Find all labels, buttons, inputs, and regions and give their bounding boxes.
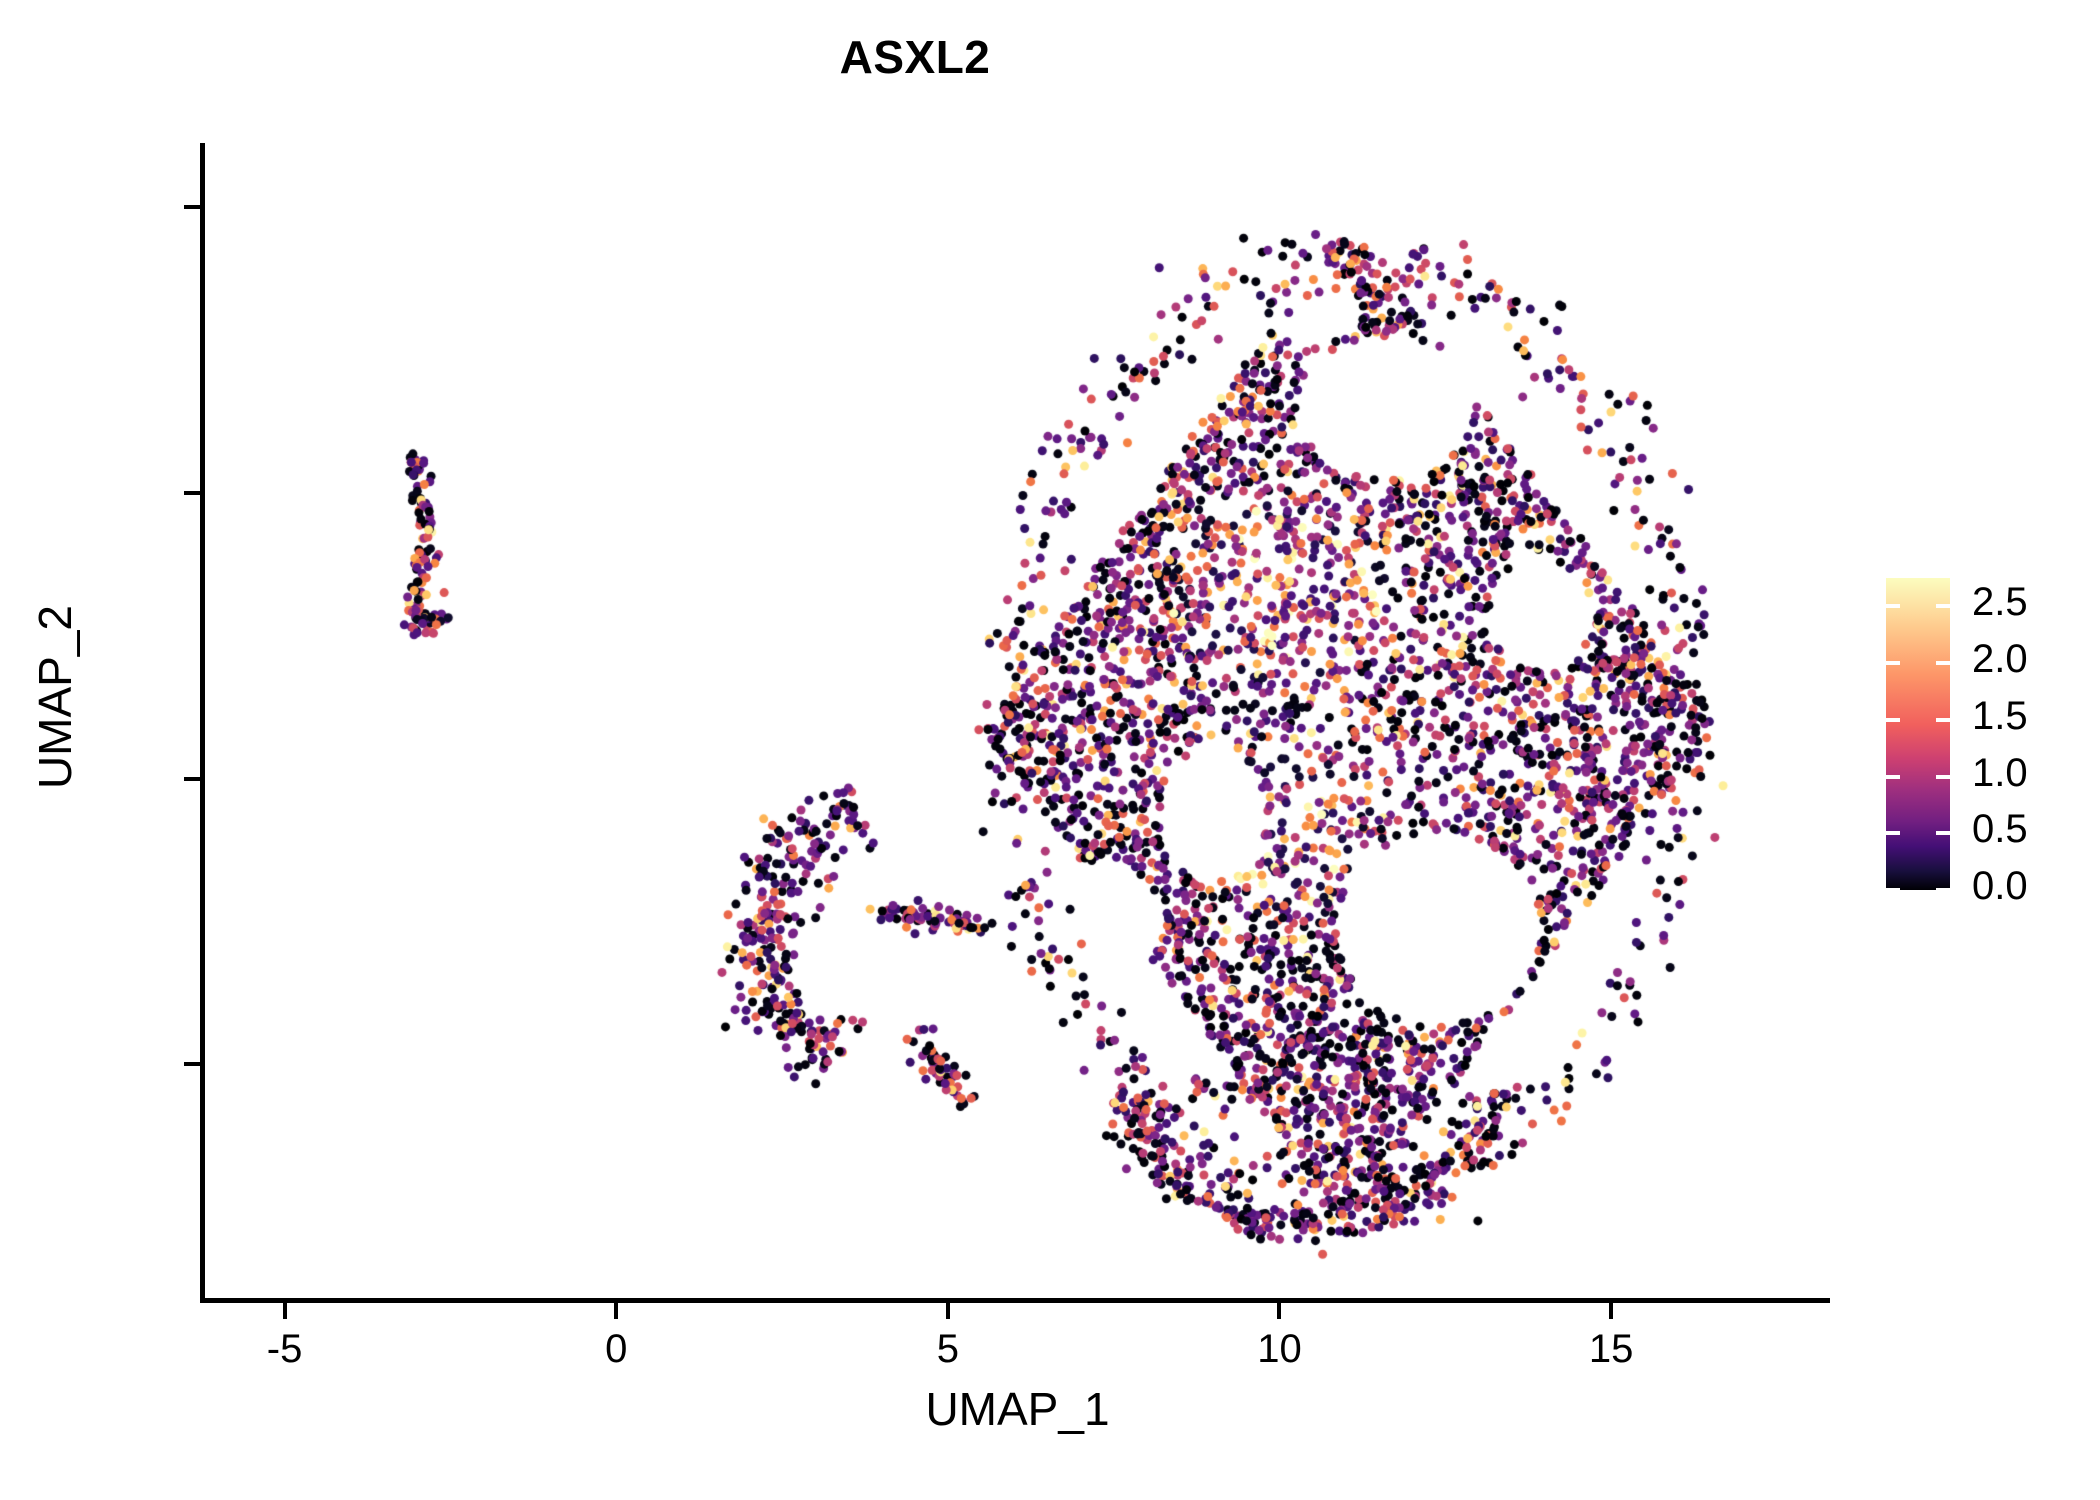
colorbar-tick-label: 2.0	[1972, 637, 2028, 682]
page-title: ASXL2	[0, 30, 1830, 84]
colorbar-tick-mark	[1936, 888, 1950, 892]
x-tick-label: 10	[1209, 1327, 1349, 1372]
colorbar-tick-label: 0.0	[1972, 864, 2028, 909]
colorbar-tick-mark	[1886, 831, 1900, 835]
colorbar-tick-mark	[1886, 604, 1900, 608]
y-tick-mark	[184, 777, 200, 781]
colorbar-tick-mark	[1936, 604, 1950, 608]
colorbar-tick-mark	[1936, 775, 1950, 779]
colorbar-legend: 2.52.01.51.00.50.0	[1886, 578, 1950, 890]
colorbar-tick-mark	[1886, 661, 1900, 665]
plot-panel	[205, 143, 1830, 1300]
x-tick-label: 0	[546, 1327, 686, 1372]
y-tick-mark	[184, 1062, 200, 1066]
x-tick-mark	[614, 1303, 618, 1319]
x-tick-mark	[283, 1303, 287, 1319]
y-tick-mark	[184, 205, 200, 209]
colorbar-tick-label: 1.5	[1972, 694, 2028, 739]
x-tick-label: -5	[215, 1327, 355, 1372]
y-axis-line	[200, 143, 205, 1303]
y-axis-title: UMAP_2	[28, 297, 82, 1097]
colorbar-gradient	[1886, 578, 1950, 890]
colorbar-tick-mark	[1936, 831, 1950, 835]
x-tick-label: 5	[878, 1327, 1018, 1372]
colorbar-tick-label: 2.5	[1972, 580, 2028, 625]
colorbar-tick-mark	[1886, 718, 1900, 722]
x-tick-label: 15	[1541, 1327, 1681, 1372]
y-tick-mark	[184, 491, 200, 495]
scatter-plot-canvas	[205, 143, 1830, 1300]
chart-root: ASXL2 04812 -5051015 UMAP_1 UMAP_2 2.52.…	[0, 0, 2100, 1500]
x-tick-mark	[1277, 1303, 1281, 1319]
x-axis-title: UMAP_1	[205, 1382, 1830, 1436]
colorbar-tick-mark	[1886, 775, 1900, 779]
colorbar-tick-mark	[1936, 718, 1950, 722]
colorbar-tick-label: 1.0	[1972, 751, 2028, 796]
x-tick-mark	[1609, 1303, 1613, 1319]
colorbar-tick-mark	[1886, 888, 1900, 892]
x-tick-mark	[946, 1303, 950, 1319]
colorbar-tick-label: 0.5	[1972, 807, 2028, 852]
x-axis-line	[200, 1298, 1830, 1303]
colorbar-tick-mark	[1936, 661, 1950, 665]
